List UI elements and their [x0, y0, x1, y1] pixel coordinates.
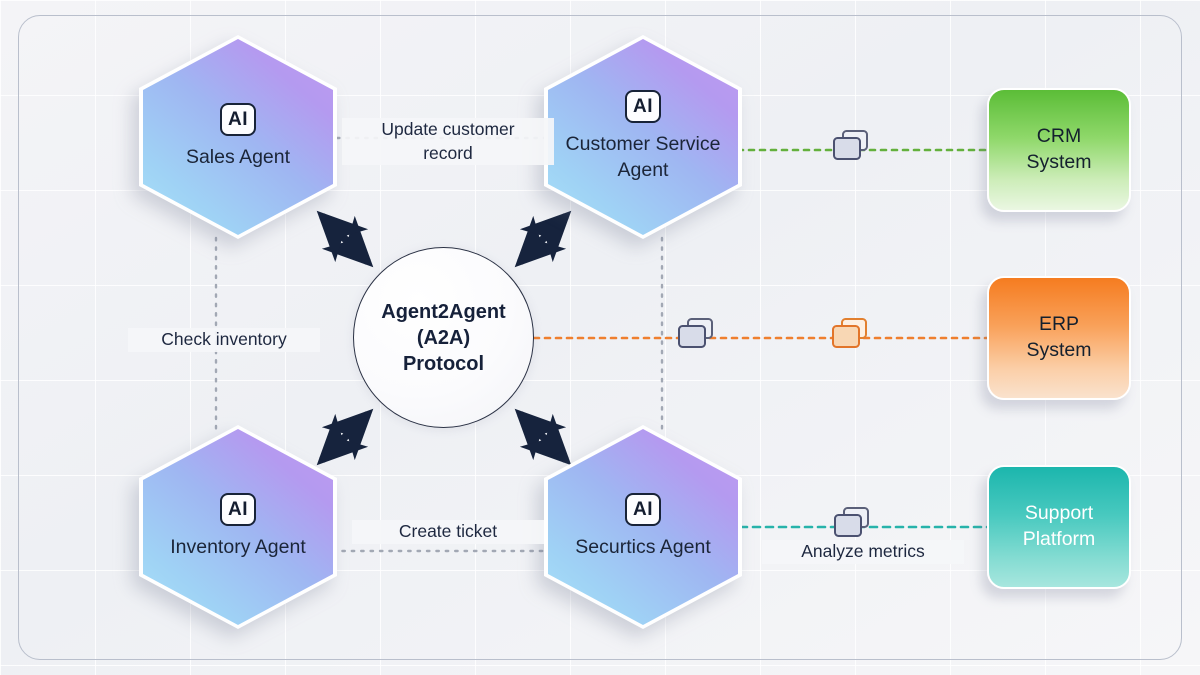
hub-line-1: Agent2Agent: [381, 299, 505, 325]
stacked-cards-icon-support: [832, 505, 872, 539]
system-card-support[interactable]: Support Platform: [987, 465, 1131, 589]
ai-badge-icon: AI: [220, 103, 256, 136]
agent-label-inventory: Inventory Agent: [170, 535, 306, 561]
system-card-crm[interactable]: CRM System: [987, 88, 1131, 212]
hub-line-3: Protocol: [403, 351, 484, 377]
agent-node-securtics[interactable]: AI Securtics Agent: [544, 425, 742, 629]
hex-body: AI Sales Agent: [143, 39, 333, 235]
ai-badge-icon: AI: [220, 493, 256, 526]
edge-label-analyze-metrics: Analyze metrics: [762, 540, 964, 564]
stacked-cards-icon-erp-left: [676, 316, 716, 350]
agent-node-customer[interactable]: AI Customer Service Agent: [544, 35, 742, 239]
system-label-crm: CRM System: [1026, 124, 1091, 175]
agent-label-securtics: Securtics Agent: [575, 535, 711, 561]
protocol-hub[interactable]: Agent2Agent (A2A) Protocol: [353, 247, 534, 428]
agent-label-customer: Customer Service Agent: [563, 132, 723, 184]
edge-label-create-ticket: Create ticket: [352, 520, 544, 544]
agent-node-inventory[interactable]: AI Inventory Agent: [139, 425, 337, 629]
edge-label-check-inventory: Check inventory: [128, 328, 320, 352]
stacked-cards-icon-erp-right: [830, 316, 870, 350]
hub-line-2: (A2A): [417, 325, 470, 351]
system-label-erp: ERP System: [1026, 312, 1091, 363]
system-label-support: Support Platform: [1023, 501, 1096, 552]
hex-body: AI Customer Service Agent: [548, 39, 738, 235]
edge-label-update-customer-record: Update customer record: [342, 118, 554, 165]
agent-node-sales[interactable]: AI Sales Agent: [139, 35, 337, 239]
stacked-cards-icon-crm: [831, 128, 871, 162]
agent-label-sales: Sales Agent: [186, 145, 290, 171]
ai-badge-icon: AI: [625, 493, 661, 526]
ai-badge-icon: AI: [625, 90, 661, 123]
system-card-erp[interactable]: ERP System: [987, 276, 1131, 400]
diagram-canvas: AI Sales Agent AI Customer Service Agent…: [0, 0, 1200, 675]
hex-body: AI Securtics Agent: [548, 429, 738, 625]
hex-body: AI Inventory Agent: [143, 429, 333, 625]
